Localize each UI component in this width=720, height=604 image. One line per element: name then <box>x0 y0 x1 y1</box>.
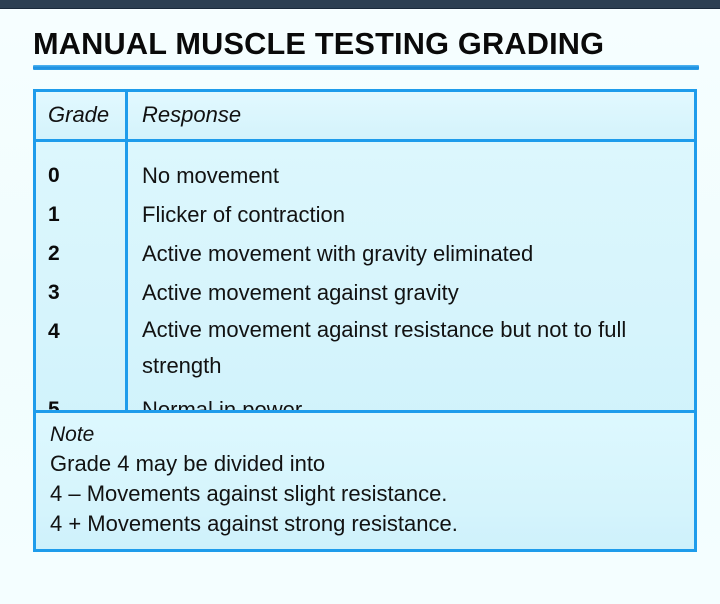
grade-column: 0 1 2 3 4 5 <box>36 142 128 445</box>
table-row: Active movement against gravity <box>142 273 682 312</box>
response-column: No movement Flicker of contraction Activ… <box>128 142 694 445</box>
table-row: No movement <box>142 156 682 195</box>
table-row: Flicker of contraction <box>142 195 682 234</box>
title-block: MANUAL MUSCLE TESTING GRADING <box>33 26 699 70</box>
note-line: 4 + Movements against strong resistance. <box>50 509 694 539</box>
page-canvas: MANUAL MUSCLE TESTING GRADING Grade Resp… <box>0 9 720 604</box>
table-header-cell-grade: Grade <box>36 92 128 139</box>
table-body: 0 1 2 3 4 5 No movement Flicker of contr… <box>36 142 694 445</box>
table-row: 4 <box>36 312 125 390</box>
column-header-response-label: Response <box>142 102 241 127</box>
table-header-row: Grade Response <box>36 92 694 142</box>
top-decorative-bar <box>0 0 720 9</box>
table-header-cell-response: Response <box>128 92 694 139</box>
table-row: 0 <box>36 156 125 195</box>
table-row: 1 <box>36 195 125 234</box>
grading-table: Grade Response 0 1 2 3 4 5 No movement F… <box>33 89 697 448</box>
note-block: Note Grade 4 may be divided into 4 – Mov… <box>33 410 697 552</box>
note-line: Grade 4 may be divided into <box>50 449 694 479</box>
table-row: 2 <box>36 234 125 273</box>
page-title: MANUAL MUSCLE TESTING GRADING <box>33 26 692 62</box>
title-underline-rule <box>33 65 699 70</box>
note-title: Note <box>50 420 694 449</box>
table-row: Active movement against resistance but n… <box>142 312 682 390</box>
column-header-grade-label: Grade <box>48 102 109 127</box>
note-line: 4 – Movements against slight resistance. <box>50 479 694 509</box>
table-row: Active movement with gravity eliminated <box>142 234 682 273</box>
table-row: 3 <box>36 273 125 312</box>
